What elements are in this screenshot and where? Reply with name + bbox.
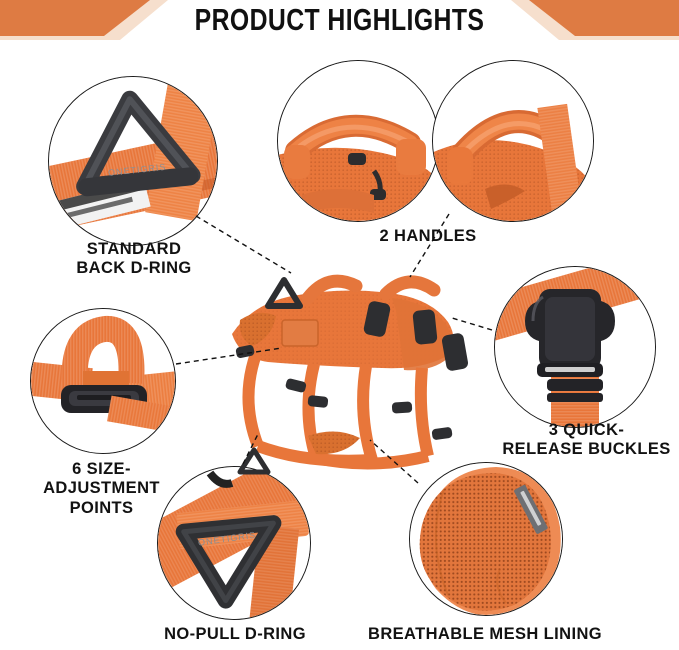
no-pull-ring-art: ONETIGRIS bbox=[158, 467, 310, 619]
callout-breathable-mesh-lining[interactable] bbox=[409, 462, 563, 616]
label-line: 2 HANDLES bbox=[298, 227, 558, 246]
callout-handle-right[interactable] bbox=[432, 60, 594, 222]
photo-size-adjuster bbox=[31, 309, 175, 453]
label-line: BREATHABLE MESH LINING bbox=[350, 625, 620, 644]
adjuster-art bbox=[31, 309, 175, 453]
label-breathable-mesh-lining: BREATHABLE MESH LINING bbox=[350, 625, 620, 644]
mesh-lining-art bbox=[410, 463, 562, 615]
callout-handle-left[interactable] bbox=[277, 60, 439, 222]
product-photo-harness bbox=[196, 250, 486, 480]
callout-standard-back-d-ring[interactable]: ONETIGRIS bbox=[48, 76, 218, 246]
photo-no-pull-d-ring: ONETIGRIS bbox=[158, 467, 310, 619]
label-quick-release-buckles: 3 QUICK- RELEASE BUCKLES bbox=[494, 421, 679, 460]
header-banner: PRODUCT HIGHLIGHTS bbox=[0, 0, 679, 46]
handle-left-art bbox=[278, 61, 438, 221]
product-highlights-infographic: PRODUCT HIGHLIGHTS bbox=[0, 0, 679, 650]
photo-standard-back-d-ring: ONETIGRIS bbox=[49, 77, 217, 245]
label-two-handles: 2 HANDLES bbox=[298, 227, 558, 246]
callout-no-pull-d-ring[interactable]: ONETIGRIS bbox=[157, 466, 311, 620]
callout-quick-release-buckles[interactable] bbox=[494, 266, 656, 428]
label-line: 3 QUICK- bbox=[494, 421, 679, 440]
label-size-adjustment-points: 6 SIZE- ADJUSTMENT POINTS bbox=[14, 460, 189, 518]
label-line: 6 SIZE- bbox=[14, 460, 189, 479]
photo-quick-release-buckle bbox=[495, 267, 655, 427]
page-title: PRODUCT HIGHLIGHTS bbox=[68, 0, 611, 40]
callout-size-adjustment-points[interactable] bbox=[30, 308, 176, 454]
handle-right-art bbox=[433, 61, 593, 221]
buckle-art bbox=[495, 267, 655, 427]
photo-mesh-lining bbox=[410, 463, 562, 615]
label-no-pull-d-ring: NO-PULL D-RING bbox=[140, 625, 330, 644]
label-line: ADJUSTMENT bbox=[14, 479, 189, 498]
photo-handle-left bbox=[278, 61, 438, 221]
photo-handle-right bbox=[433, 61, 593, 221]
d-ring-closeup-art: ONETIGRIS bbox=[49, 77, 217, 245]
label-line: RELEASE BUCKLES bbox=[494, 440, 679, 459]
label-line: NO-PULL D-RING bbox=[140, 625, 330, 644]
